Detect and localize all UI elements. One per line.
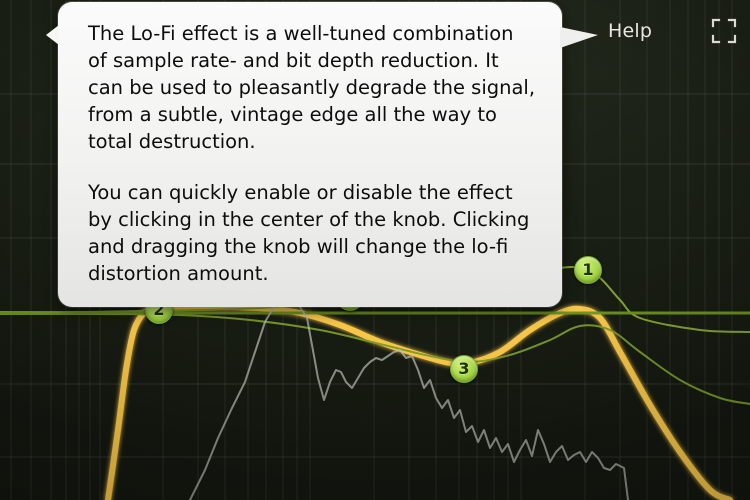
arrow-right-icon[interactable] [560, 27, 598, 48]
tooltip-paragraph-2: You can quickly enable or disable the ef… [88, 179, 538, 287]
arrow-left-icon[interactable] [46, 25, 59, 45]
plugin-window: 1234 Help The Lo-Fi effect is a well-tun… [0, 0, 750, 500]
curve-spectrum-analyser [190, 300, 628, 500]
step-badge-1[interactable]: 1 [574, 256, 602, 284]
step-badge-3[interactable]: 3 [450, 355, 478, 383]
help-label[interactable]: Help [608, 20, 652, 42]
help-tooltip[interactable]: The Lo-Fi effect is a well-tuned combina… [58, 2, 562, 307]
tooltip-paragraph-1: The Lo-Fi effect is a well-tuned combina… [88, 20, 538, 155]
curve-main-eq-curve [108, 307, 730, 500]
fullscreen-icon[interactable] [709, 16, 739, 46]
